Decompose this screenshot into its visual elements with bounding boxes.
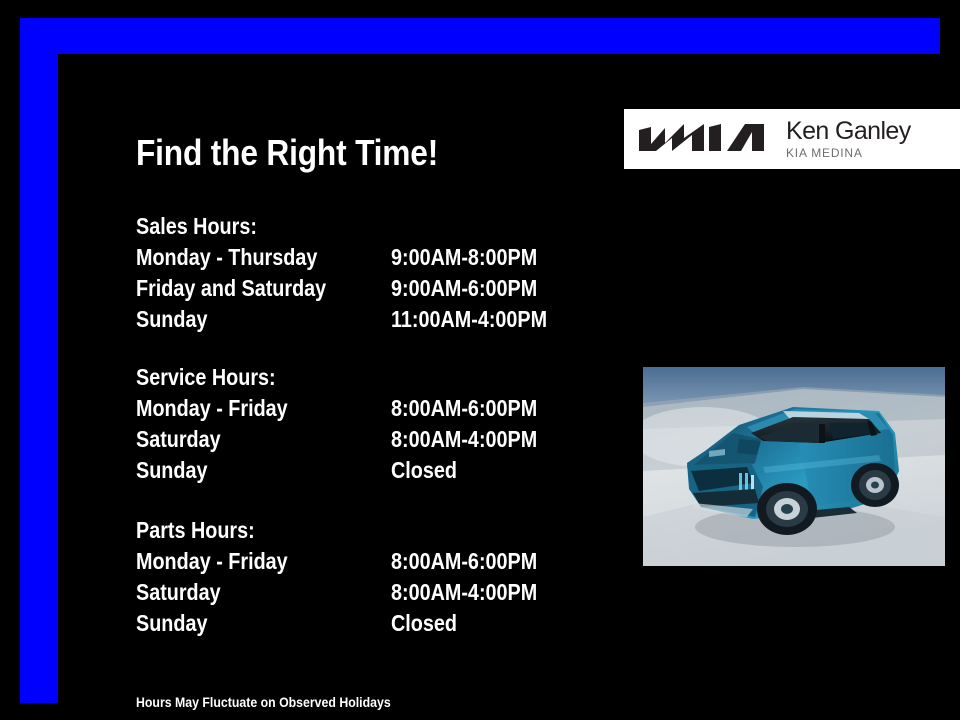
hours-row: Sunday Closed [136, 455, 606, 486]
hours-day-label: Friday and Saturday [136, 273, 326, 304]
section-heading-sales: Sales Hours: [136, 211, 540, 242]
hours-day-label: Monday - Friday [136, 546, 288, 577]
hours-block-sales: Sales Hours: Monday - Thursday 9:00AM-8:… [136, 211, 606, 335]
hours-row: Saturday 8:00AM-4:00PM [136, 424, 606, 455]
hours-row: Sunday 11:00AM-4:00PM [136, 304, 606, 335]
vehicle-photo [643, 367, 945, 566]
hours-row: Monday - Friday 8:00AM-6:00PM [136, 546, 606, 577]
hours-block-parts: Parts Hours: Monday - Friday 8:00AM-6:00… [136, 515, 606, 639]
dealer-logo-banner: Ken Ganley KIA MEDINA [624, 109, 960, 169]
hours-row: Monday - Thursday 9:00AM-8:00PM [136, 242, 606, 273]
blue-border-frame: Find the Right Time! Sales Hours: Monday… [20, 18, 940, 703]
hours-row: Friday and Saturday 9:00AM-6:00PM [136, 273, 606, 304]
hours-day-label: Sunday [136, 304, 207, 335]
hours-day-label: Monday - Thursday [136, 242, 317, 273]
hours-time-value: 8:00AM-6:00PM [391, 546, 537, 577]
hours-day-label: Sunday [136, 608, 207, 639]
slide-root: Find the Right Time! Sales Hours: Monday… [0, 0, 960, 720]
hours-time-value: 8:00AM-6:00PM [391, 393, 537, 424]
hours-row: Saturday 8:00AM-4:00PM [136, 577, 606, 608]
hours-day-label: Saturday [136, 577, 221, 608]
hours-time-value: 9:00AM-6:00PM [391, 273, 537, 304]
section-heading-service: Service Hours: [136, 362, 540, 393]
dealer-name-group: Ken Ganley KIA MEDINA [786, 119, 911, 159]
hours-time-value: 8:00AM-4:00PM [391, 577, 537, 608]
kia-logo-icon [638, 123, 766, 155]
hours-time-value: Closed [391, 608, 457, 639]
vehicle-photo-illustration [643, 367, 945, 566]
dealer-name: Ken Ganley [786, 119, 911, 144]
hours-time-value: 11:00AM-4:00PM [391, 304, 547, 335]
slide-content-panel: Find the Right Time! Sales Hours: Monday… [58, 54, 942, 703]
hours-day-label: Saturday [136, 424, 221, 455]
hours-time-value: 9:00AM-8:00PM [391, 242, 537, 273]
hours-day-label: Monday - Friday [136, 393, 288, 424]
hours-block-service: Service Hours: Monday - Friday 8:00AM-6:… [136, 362, 606, 486]
page-title: Find the Right Time! [136, 132, 438, 174]
hours-row: Sunday Closed [136, 608, 606, 639]
section-heading-parts: Parts Hours: [136, 515, 540, 546]
dealer-subtitle: KIA MEDINA [786, 147, 911, 159]
hours-day-label: Sunday [136, 455, 207, 486]
hours-time-value: 8:00AM-4:00PM [391, 424, 537, 455]
holiday-disclaimer: Hours May Fluctuate on Observed Holidays [136, 694, 391, 710]
hours-time-value: Closed [391, 455, 457, 486]
hours-row: Monday - Friday 8:00AM-6:00PM [136, 393, 606, 424]
